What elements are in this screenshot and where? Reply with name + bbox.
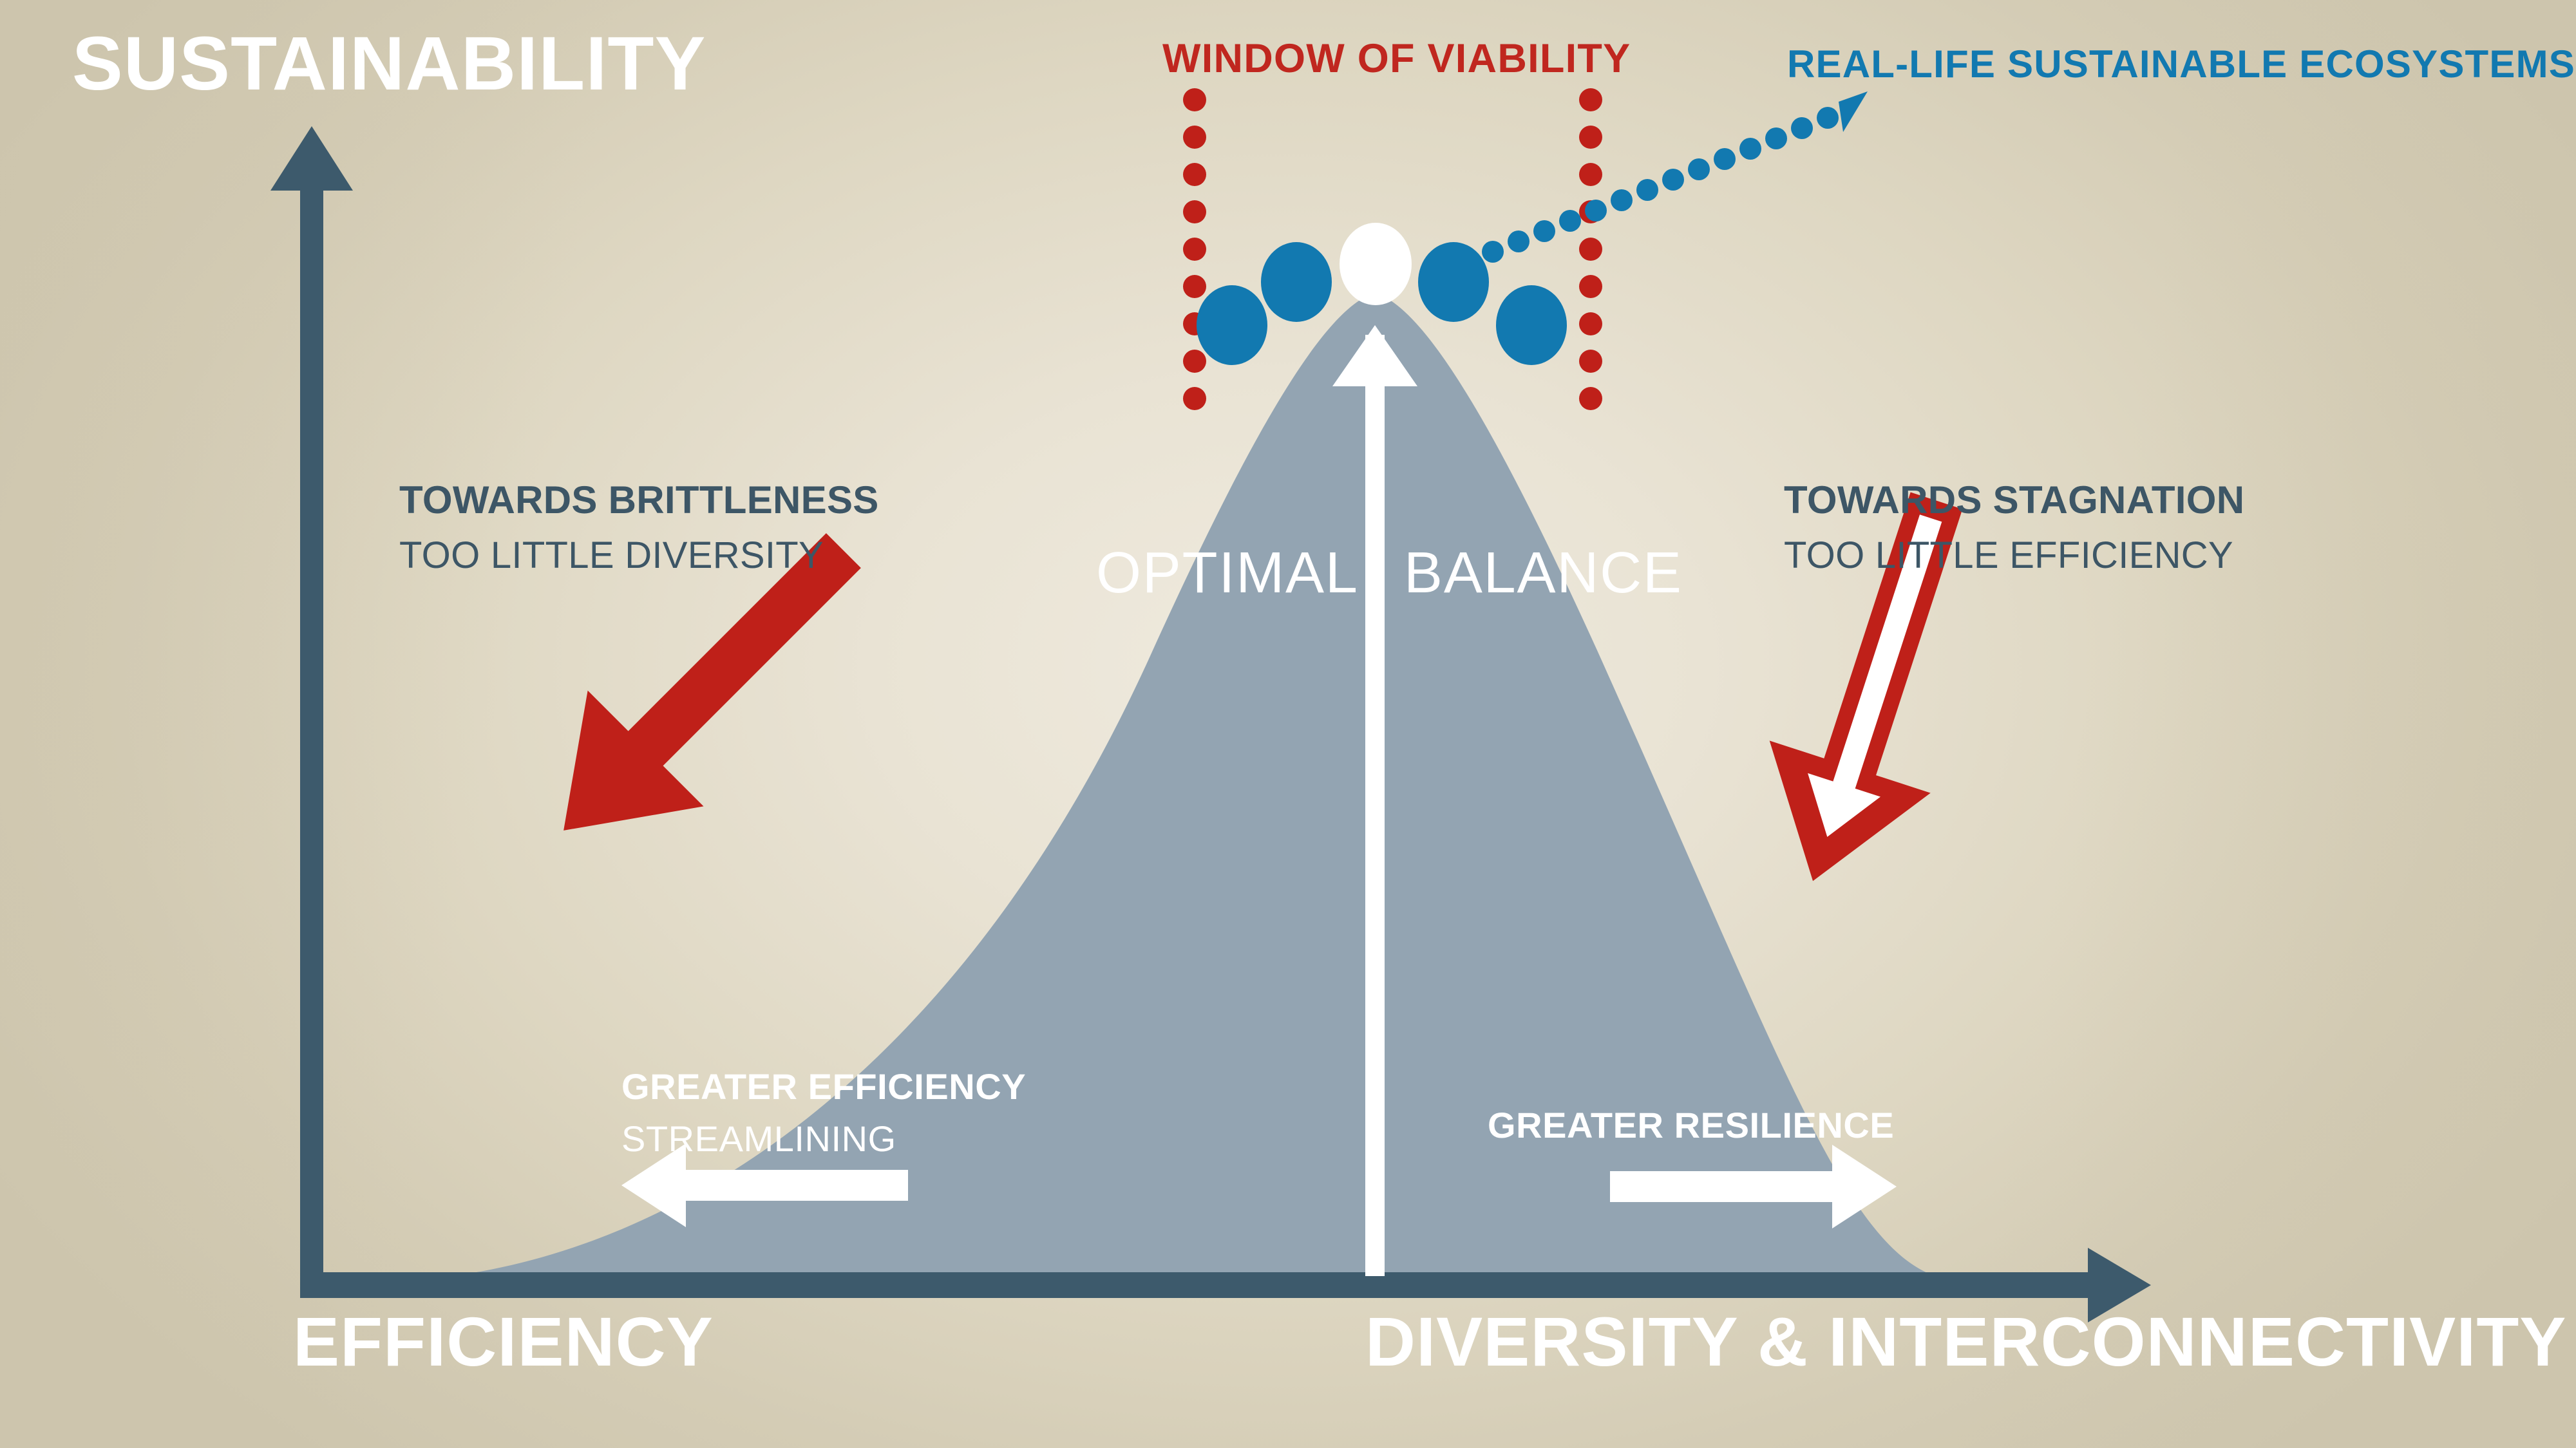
towards-stagnation-heading: TOWARDS STAGNATION xyxy=(1784,478,2244,522)
x-axis-title-right: DIVERSITY & INTERCONNECTIVITY xyxy=(1365,1307,2567,1377)
window-left-boundary xyxy=(1183,88,1206,410)
greater-efficiency-block: GREATER EFFICIENCY STREAMLINING xyxy=(621,1066,1026,1160)
greater-resilience-heading: GREATER RESILIENCE xyxy=(1488,1104,1894,1146)
real-life-ecosystems-label: REAL-LIFE SUSTAINABLE ECOSYSTEMS xyxy=(1787,45,2575,84)
ecosystem-leader-line xyxy=(1482,91,1868,263)
greater-efficiency-subheading: STREAMLINING xyxy=(621,1118,1026,1160)
towards-brittleness-subheading: TOO LITTLE DIVERSITY xyxy=(399,534,879,577)
greater-efficiency-heading: GREATER EFFICIENCY xyxy=(621,1066,1026,1107)
balance-label: BALANCE xyxy=(1404,544,1683,602)
ecosystem-dot-2 xyxy=(1261,242,1332,322)
y-axis-title: SUSTAINABILITY xyxy=(72,26,706,102)
x-axis-title-left: EFFICIENCY xyxy=(293,1307,714,1377)
infographic-canvas: SUSTAINABILITY EFFICIENCY DIVERSITY & IN… xyxy=(0,0,2576,1448)
y-axis xyxy=(270,126,353,1285)
ecosystem-dot-1 xyxy=(1197,285,1267,365)
chart-svg xyxy=(0,0,2576,1448)
towards-stagnation-block: TOWARDS STAGNATION TOO LITTLE EFFICIENCY xyxy=(1784,478,2244,577)
greater-resilience-block: GREATER RESILIENCE xyxy=(1488,1104,1894,1146)
ecosystem-dot-3 xyxy=(1418,242,1489,322)
towards-brittleness-block: TOWARDS BRITTLENESS TOO LITTLE DIVERSITY xyxy=(399,478,879,577)
center-divider-line xyxy=(1365,335,1385,1276)
window-right-boundary xyxy=(1579,88,1602,410)
window-of-viability-label: WINDOW OF VIABILITY xyxy=(1162,39,1631,79)
ecosystem-dot-4 xyxy=(1496,285,1567,365)
optimal-label: OPTIMAL xyxy=(1096,544,1359,602)
towards-stagnation-subheading: TOO LITTLE EFFICIENCY xyxy=(1784,534,2244,577)
towards-brittleness-heading: TOWARDS BRITTLENESS xyxy=(399,478,879,522)
optimal-balance-dot xyxy=(1340,223,1412,305)
